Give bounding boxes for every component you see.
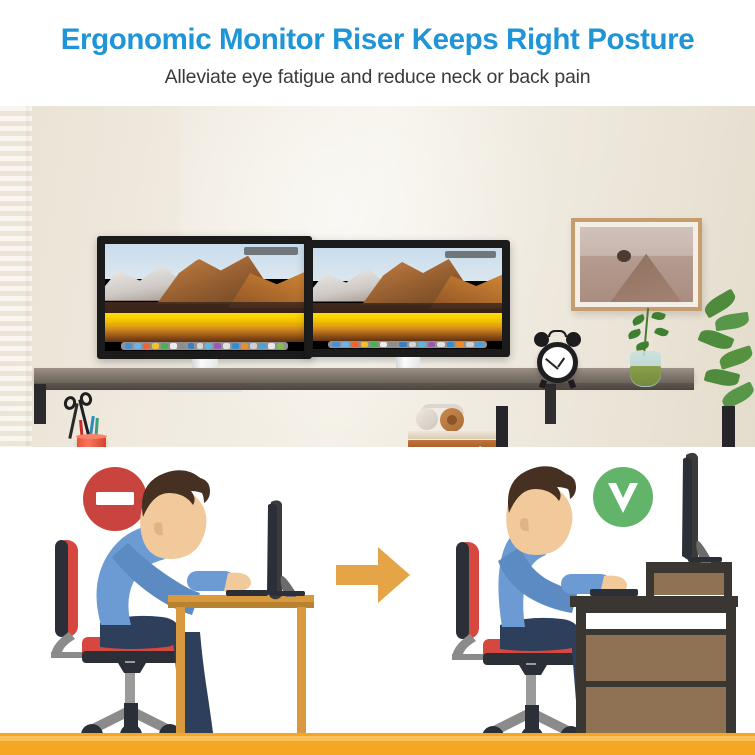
headphone-cup-left	[416, 408, 438, 430]
stacked-books: THRIFT	[408, 431, 500, 447]
pen-cup	[77, 436, 106, 447]
monitor-left-screen	[105, 244, 304, 351]
monitor-riser-shelf	[34, 368, 694, 383]
floor-highlight-line	[0, 736, 755, 741]
product-marketing-image: Ergonomic Monitor Riser Keeps Right Post…	[0, 0, 755, 755]
webcam-icon-2	[406, 242, 410, 246]
transition-arrow-icon	[336, 547, 410, 603]
riser-shelf-edge	[34, 383, 694, 390]
check-mark-badge	[593, 467, 653, 527]
monitor-left	[97, 236, 312, 359]
clock-handle	[548, 330, 567, 337]
desk-leg-middle	[496, 406, 508, 447]
product-photo: THRIFT	[0, 106, 755, 447]
desk-leg-right	[722, 406, 735, 447]
riser-leg-right	[545, 384, 556, 424]
good-posture-scene	[452, 453, 738, 748]
webcam-icon	[203, 238, 207, 242]
page-subtitle: Alleviate eye fatigue and reduce neck or…	[0, 66, 755, 89]
riser-leg-left	[34, 384, 46, 424]
bad-posture-scene	[51, 467, 314, 746]
alarm-clock	[537, 342, 578, 383]
monitor-right-screen	[313, 248, 502, 349]
macos-dock-2	[328, 341, 487, 348]
curtain	[0, 106, 32, 447]
posture-svg	[0, 447, 755, 755]
page-title: Ergonomic Monitor Riser Keeps Right Post…	[0, 23, 755, 57]
no-entry-badge	[83, 467, 147, 531]
posture-comparison-illustration	[0, 447, 755, 755]
plant-right	[689, 292, 755, 422]
header-banner: Ergonomic Monitor Riser Keeps Right Post…	[0, 0, 755, 106]
monitor-right	[305, 240, 510, 357]
headphone-cup-right	[440, 408, 464, 432]
macos-dock	[121, 342, 288, 349]
framed-wall-art	[571, 218, 702, 311]
